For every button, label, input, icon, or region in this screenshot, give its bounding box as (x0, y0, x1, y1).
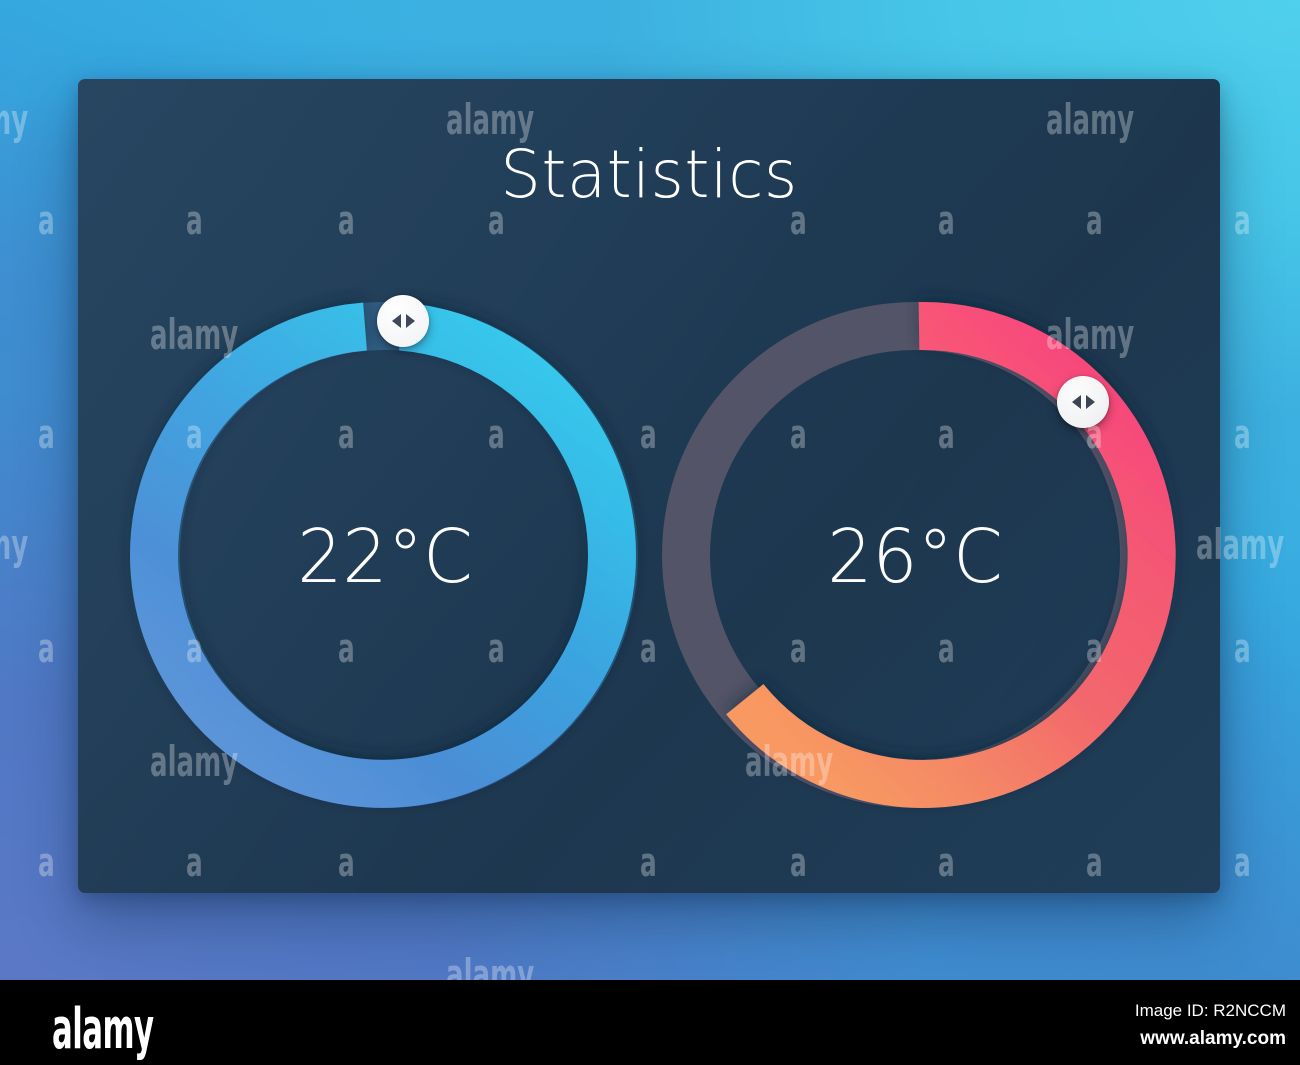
arrow-left-icon (1072, 395, 1081, 409)
temperature-gauge-left[interactable]: 22°C (130, 300, 640, 810)
alamy-url-label: www.alamy.com (1135, 1024, 1286, 1053)
footer-meta: Image ID: R2NCCM www.alamy.com (1135, 998, 1286, 1054)
gauge-left-handle[interactable] (377, 295, 429, 347)
gauge-left-fill (154, 327, 612, 784)
temperature-gauge-right[interactable]: 26°C (660, 300, 1170, 810)
arrow-right-icon (406, 314, 415, 328)
image-id-label: Image ID: R2NCCM (1135, 998, 1286, 1024)
arrow-left-icon (392, 314, 401, 328)
statistics-card: Statistics (78, 79, 1220, 893)
alamy-footer-bar: alamy Image ID: R2NCCM www.alamy.com (0, 980, 1300, 1065)
gauge-left-svg (130, 300, 640, 810)
page-title: Statistics (95, 142, 1203, 208)
arrow-right-icon (1086, 395, 1095, 409)
gauge-right-handle[interactable] (1057, 376, 1109, 428)
gauge-right-svg (660, 300, 1170, 810)
artwork-stage: Statistics (0, 0, 1300, 980)
alamy-logo: alamy (52, 1002, 154, 1058)
